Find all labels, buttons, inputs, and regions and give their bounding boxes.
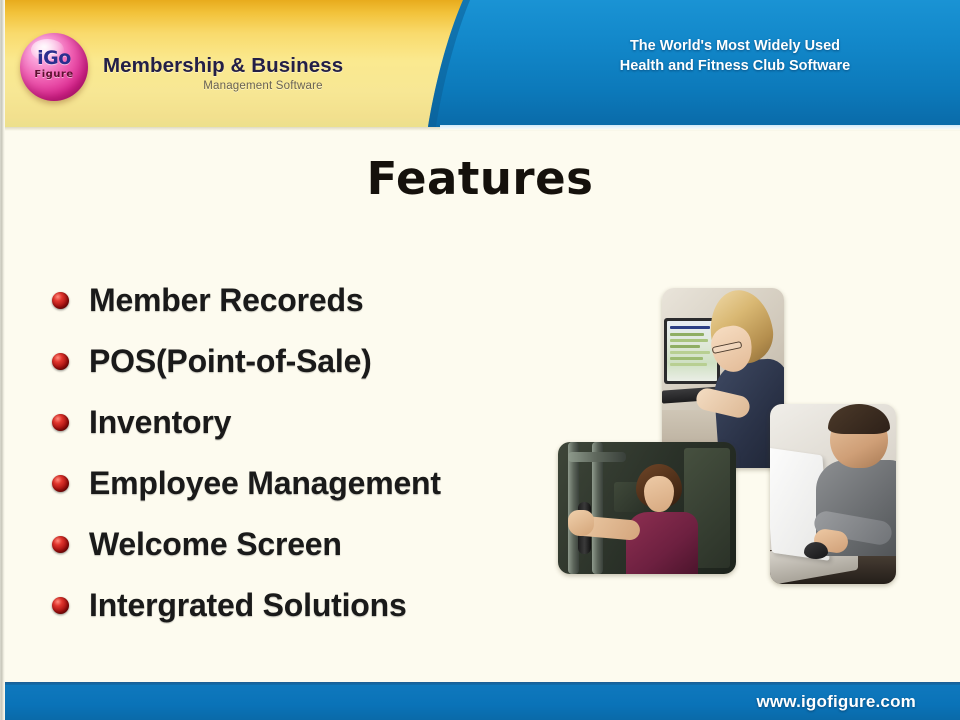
red-sphere-bullet-icon [52,536,69,553]
brand-title: Membership & Business [103,55,423,77]
header-tagline: The World's Most Widely Used Health and … [520,36,950,76]
list-item-label: Employee Management [89,465,441,502]
list-item: Inventory [52,392,572,453]
igofigure-logo[interactable]: iGo Figure [20,33,88,101]
list-item-label: Inventory [89,404,231,441]
features-list: Member Recoreds POS(Point-of-Sale) Inven… [52,270,572,636]
red-sphere-bullet-icon [52,292,69,309]
tagline-line-2: Health and Fitness Club Software [520,56,950,76]
list-item-label: Intergrated Solutions [89,587,407,624]
list-item: Member Recoreds [52,270,572,331]
computer-mouse-icon [804,542,828,559]
person-hand [568,510,594,536]
woman-on-gym-equipment-photo [558,442,736,574]
list-item-label: Member Recoreds [89,282,363,319]
monitor-screen [667,321,717,381]
logo-sub-text: Figure [20,70,88,80]
tagline-line-1: The World's Most Widely Used [520,36,950,56]
photo-collage [552,282,900,602]
slide-footer: www.igofigure.com [0,682,960,720]
header-divider-rule [440,125,960,130]
gym-machine-pipe [568,452,626,462]
logo-text-block: iGo Figure [20,49,88,80]
logo-main-text: iGo [20,49,88,68]
brand-subtitle: Management Software [103,80,423,92]
list-item: Intergrated Solutions [52,575,572,636]
red-sphere-bullet-icon [52,353,69,370]
red-sphere-bullet-icon [52,414,69,431]
list-item-label: POS(Point-of-Sale) [89,343,372,380]
man-at-laptop-photo [770,404,896,584]
left-edge-bevel [0,0,5,720]
list-item: POS(Point-of-Sale) [52,331,572,392]
page-title: Features [0,152,960,205]
red-sphere-bullet-icon [52,475,69,492]
red-sphere-bullet-icon [52,597,69,614]
list-item: Welcome Screen [52,514,572,575]
person-torso [626,512,698,574]
list-item-label: Welcome Screen [89,526,342,563]
presentation-slide: iGo Figure Membership & Business Managem… [0,0,960,720]
woman-at-desktop-computer-photo [662,288,784,468]
list-item: Employee Management [52,453,572,514]
brand-block: Membership & Business Management Softwar… [103,55,423,92]
website-url[interactable]: www.igofigure.com [756,692,916,712]
